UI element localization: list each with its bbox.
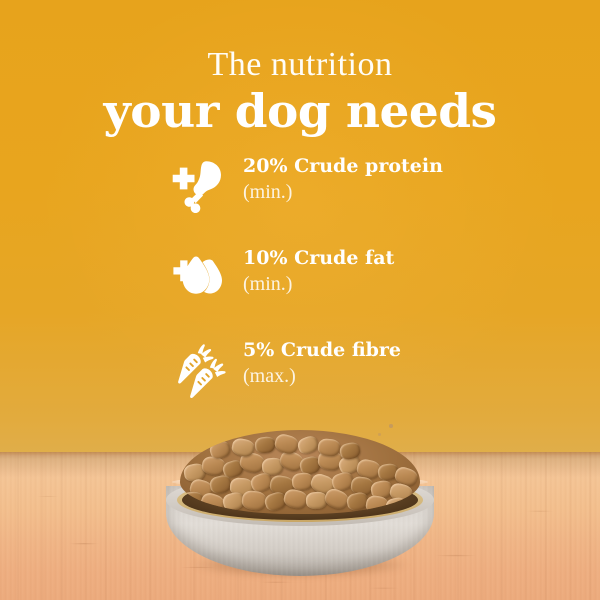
nutrition-fact-fat-qualifier: (min.) (243, 271, 493, 297)
nutrition-fact-protein-value: 20% Crude protein (243, 154, 493, 178)
kibble-pile (180, 430, 420, 514)
droplet-plus-icon (168, 250, 226, 306)
dog-food-bowl (166, 452, 434, 576)
product-scene (0, 420, 600, 600)
nutrition-fact-protein-qualifier: (min.) (243, 179, 493, 205)
promo-graphic: The nutrition your dog needs 20% Crude p… (0, 0, 600, 600)
nutrition-fact-protein: 20% Crude protein (min.) (168, 156, 498, 218)
nutrition-facts-list: 20% Crude protein (min.) 10% Crude fat (168, 156, 498, 402)
kibble-crumb (389, 424, 393, 428)
nutrition-fact-fibre-qualifier: (max.) (243, 363, 493, 389)
nutrition-fact-fibre-value: 5% Crude fibre (243, 338, 493, 362)
nutrition-fact-fibre-text: 5% Crude fibre (max.) (243, 338, 493, 389)
headline-block: The nutrition your dog needs (0, 46, 600, 136)
headline-line-2: your dog needs (0, 86, 600, 136)
drumstick-plus-icon (168, 158, 226, 214)
nutrition-fact-fat-value: 10% Crude fat (243, 246, 493, 270)
headline-line-1: The nutrition (0, 46, 600, 84)
carrots-icon (168, 342, 226, 398)
nutrition-fact-fibre: 5% Crude fibre (max.) (168, 340, 498, 402)
nutrition-fact-fat: 10% Crude fat (min.) (168, 248, 498, 310)
nutrition-fact-protein-text: 20% Crude protein (min.) (243, 154, 493, 205)
kibble-crumb (378, 433, 381, 436)
nutrition-fact-fat-text: 10% Crude fat (min.) (243, 246, 493, 297)
